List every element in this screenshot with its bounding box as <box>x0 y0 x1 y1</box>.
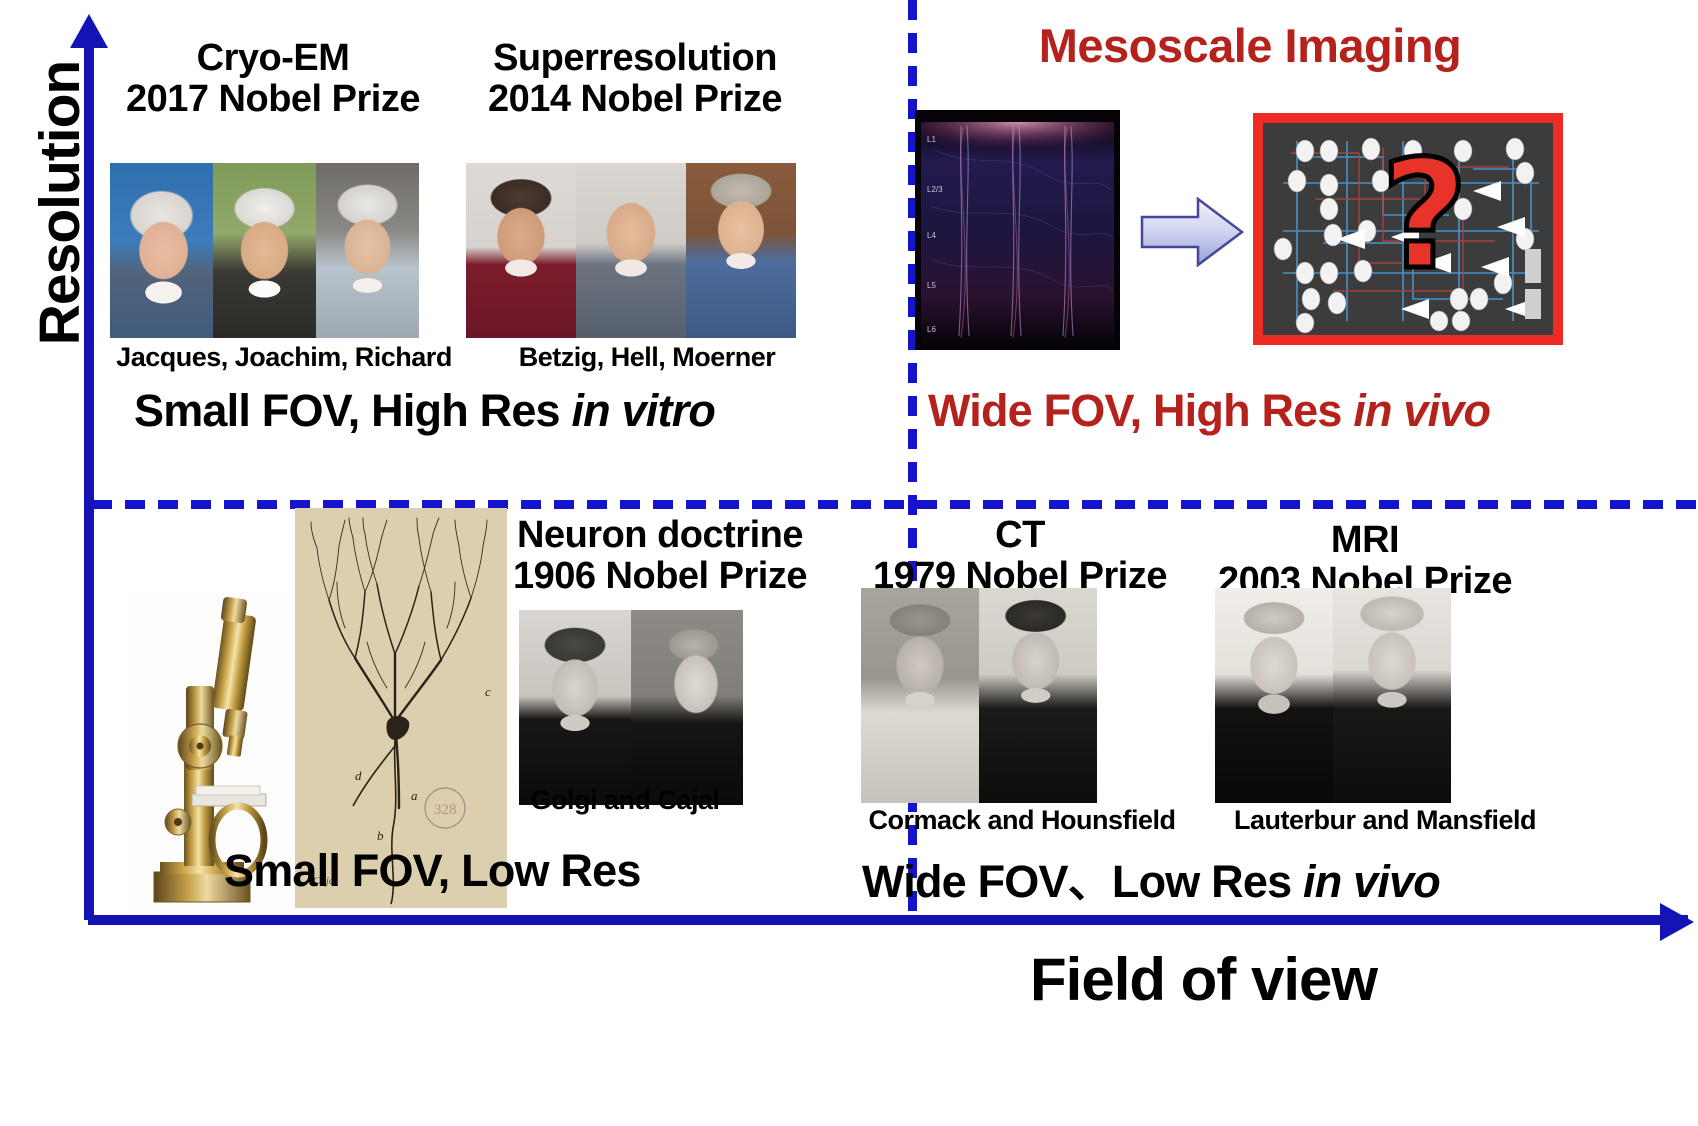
portrait-godfrey-hounsfield <box>979 588 1097 803</box>
portrait-camillo-golgi <box>519 610 631 805</box>
portrait-jacques-dubochet <box>110 163 213 338</box>
top-left-summary-text: Small FOV, High Res <box>134 385 571 436</box>
cryoem-title-line2: 2017 Nobel Prize <box>108 79 438 120</box>
neuron-doctrine-caption: Golgi and Cajal <box>509 785 741 816</box>
x-axis-arrowhead-icon <box>1660 903 1694 941</box>
right-arrow-icon <box>1140 195 1244 269</box>
x-axis-line <box>88 915 1688 925</box>
mesoscale-circuit-diagram: ? <box>1253 113 1563 345</box>
superresolution-title-line1: Superresolution <box>455 38 815 79</box>
cortical-column-svg: L1 L2/3 L4 L5 L6 <box>915 110 1120 350</box>
cryoem-title: Cryo-EM 2017 Nobel Prize <box>108 38 438 120</box>
top-right-summary-text: Wide FOV, High Res <box>928 385 1353 436</box>
superresolution-title-line2: 2014 Nobel Prize <box>455 79 815 120</box>
circuit-diagram-inner: ? <box>1263 123 1553 335</box>
portrait-joachim-frank <box>213 163 316 338</box>
mesoscale-imaging-title: Mesoscale Imaging <box>930 18 1570 73</box>
mri-title-line1: MRI <box>1200 520 1530 561</box>
portrait-wd-moerner <box>686 163 796 338</box>
layer-label-l4: L4 <box>927 231 936 240</box>
portrait-eric-betzig <box>466 163 576 338</box>
neuron-doctrine-title: Neuron doctrine 1906 Nobel Prize <box>510 515 810 597</box>
bottom-left-summary: Small FOV, Low Res <box>224 845 641 897</box>
layer-label-l6: L6 <box>927 325 936 334</box>
drawing-label-d: d <box>355 768 362 783</box>
layer-label-l23: L2/3 <box>927 185 943 194</box>
ct-laureate-photos <box>861 588 1097 803</box>
cryoem-title-line1: Cryo-EM <box>108 38 438 79</box>
portrait-allan-cormack <box>861 588 979 803</box>
bottom-right-summary-italic: in vivo <box>1303 856 1440 907</box>
drawing-label-c: c <box>485 684 491 699</box>
neuron-doctrine-title-line2: 1906 Nobel Prize <box>510 556 810 597</box>
portrait-peter-mansfield <box>1333 588 1451 803</box>
drawing-label-b: b <box>377 828 384 843</box>
ct-caption: Cormack and Hounsfield <box>844 805 1200 836</box>
mri-caption: Lauterbur and Mansfield <box>1200 805 1570 836</box>
cortical-column-micrograph: L1 L2/3 L4 L5 L6 <box>915 110 1120 350</box>
ct-title: CT 1979 Nobel Prize <box>855 515 1185 597</box>
superresolution-caption: Betzig, Hell, Moerner <box>482 342 812 373</box>
neuron-doctrine-laureate-photos <box>519 610 743 805</box>
neuron-doctrine-title-line1: Neuron doctrine <box>510 515 810 556</box>
bottom-right-summary: Wide FOV、Low Res in vivo <box>862 845 1440 910</box>
cryoem-caption: Jacques, Joachim, Richard <box>98 342 470 373</box>
top-right-summary: Wide FOV, High Res in vivo <box>928 385 1490 437</box>
y-axis-label: Resolution <box>27 43 93 363</box>
x-axis-label: Field of view <box>1030 945 1377 1014</box>
layer-label-l1: L1 <box>927 135 936 144</box>
layer-label-l5: L5 <box>927 281 936 290</box>
superresolution-title: Superresolution 2014 Nobel Prize <box>455 38 815 120</box>
quadrant-figure: Resolution Field of view Cryo-EM 2017 No… <box>0 0 1698 1126</box>
top-left-summary-italic: in vitro <box>571 385 715 436</box>
portrait-richard-henderson <box>316 163 419 338</box>
portrait-stefan-hell <box>576 163 686 338</box>
drawing-stamp-number: 328 <box>434 802 457 818</box>
portrait-paul-lauterbur <box>1215 588 1333 803</box>
top-left-summary: Small FOV, High Res in vitro <box>134 385 715 437</box>
top-right-summary-italic: in vivo <box>1353 385 1490 436</box>
superresolution-laureate-photos <box>466 163 796 338</box>
portrait-santiago-ramon-y-cajal <box>631 610 743 805</box>
drawing-label-a: a <box>411 788 418 803</box>
cryoem-laureate-photos <box>110 163 419 338</box>
ct-title-line1: CT <box>855 515 1185 556</box>
bottom-right-summary-text: Wide FOV、Low Res <box>862 856 1303 907</box>
mri-laureate-photos <box>1215 588 1451 803</box>
question-mark-overlay-icon: ? <box>1381 141 1468 291</box>
